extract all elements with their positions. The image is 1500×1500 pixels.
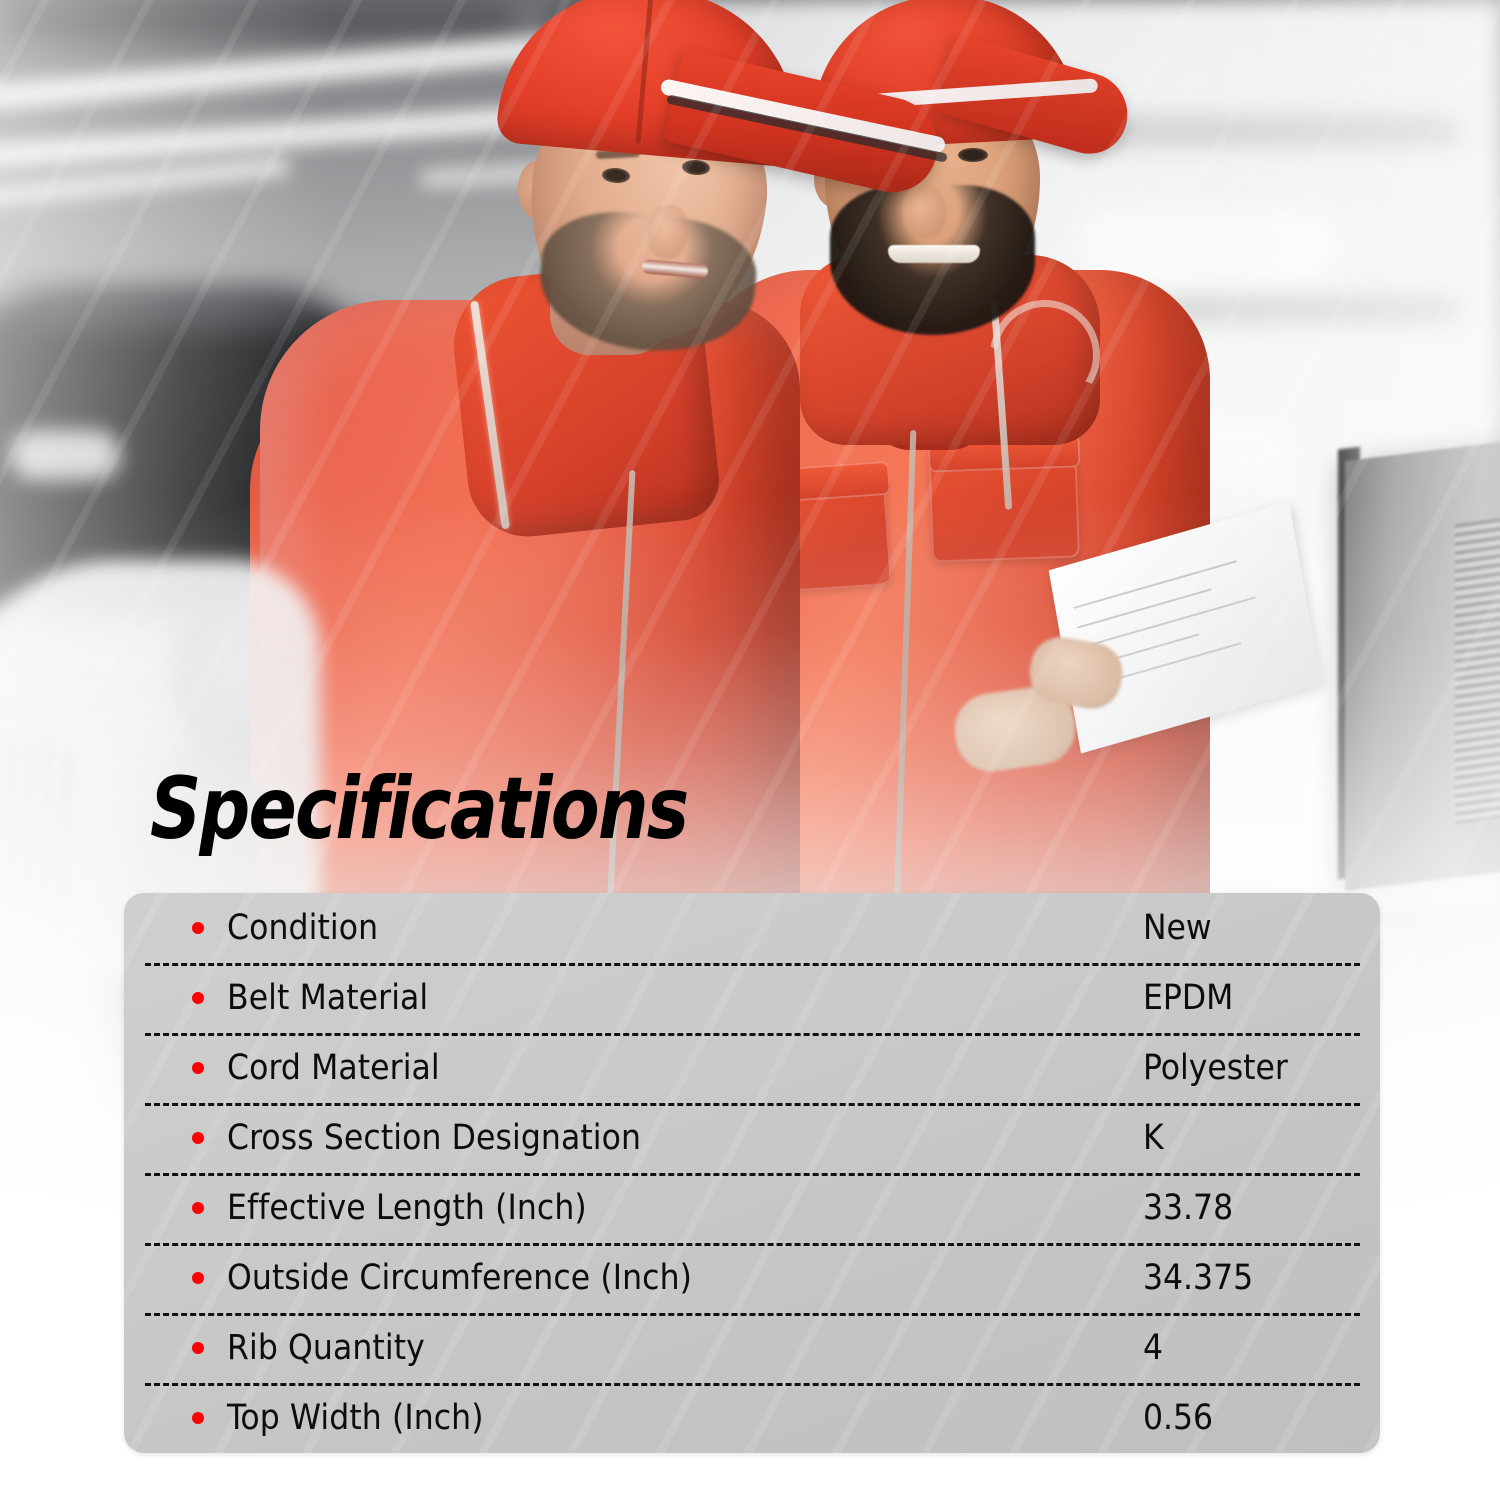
spec-label: Cord Material [227, 1048, 440, 1088]
paper-line [1080, 596, 1255, 648]
paper-line [1077, 588, 1212, 629]
table-row: Belt Material EPDM [124, 963, 1380, 1033]
spec-value: New [1143, 908, 1212, 948]
table-row: Rib Quantity 4 [124, 1313, 1380, 1383]
bullet-icon [192, 1202, 204, 1214]
blurred-car-headlight [10, 430, 120, 480]
smile [888, 245, 980, 263]
table-row: Effective Length (Inch) 33.78 [124, 1173, 1380, 1243]
spec-value: Polyester [1143, 1048, 1288, 1088]
spec-label: Rib Quantity [227, 1328, 425, 1368]
table-row: Cross Section Designation K [124, 1103, 1380, 1173]
spec-value: 33.78 [1143, 1188, 1233, 1228]
bullet-icon [192, 1132, 204, 1144]
spec-label: Belt Material [227, 978, 428, 1018]
monitor-vent [1455, 516, 1500, 824]
nose [902, 186, 946, 238]
spec-label: Cross Section Designation [227, 1118, 641, 1158]
spec-label: Effective Length (Inch) [227, 1188, 587, 1228]
table-row: Cord Material Polyester [124, 1033, 1380, 1103]
spec-value: 0.56 [1143, 1398, 1213, 1438]
table-row: Condition New [124, 893, 1380, 963]
specifications-table: Condition New Belt Material EPDM Cord Ma… [124, 893, 1380, 1453]
spec-label: Top Width (Inch) [227, 1398, 484, 1438]
bullet-icon [192, 922, 204, 934]
page-title: Specifications [150, 766, 687, 852]
table-row: Outside Circumference (Inch) 34.375 [124, 1243, 1380, 1313]
spec-value: 34.375 [1143, 1258, 1253, 1298]
bullet-icon [192, 1062, 204, 1074]
blurred-radiator [0, 740, 70, 910]
bullet-icon [192, 1272, 204, 1284]
bullet-icon [192, 1412, 204, 1424]
spec-label: Outside Circumference (Inch) [227, 1258, 692, 1298]
spec-value: K [1143, 1118, 1164, 1158]
product-spec-infographic: Specifications Condition New Belt Materi… [0, 0, 1500, 1500]
paper-line [1073, 560, 1237, 609]
spec-value: 4 [1143, 1328, 1163, 1368]
spec-value: EPDM [1143, 978, 1233, 1018]
eye-right [958, 148, 988, 162]
spec-label: Condition [227, 908, 378, 948]
bullet-icon [192, 1342, 204, 1354]
specifications-panel: Condition New Belt Material EPDM Cord Ma… [124, 893, 1380, 1453]
bullet-icon [192, 992, 204, 1004]
table-row: Top Width (Inch) 0.56 [124, 1383, 1380, 1453]
